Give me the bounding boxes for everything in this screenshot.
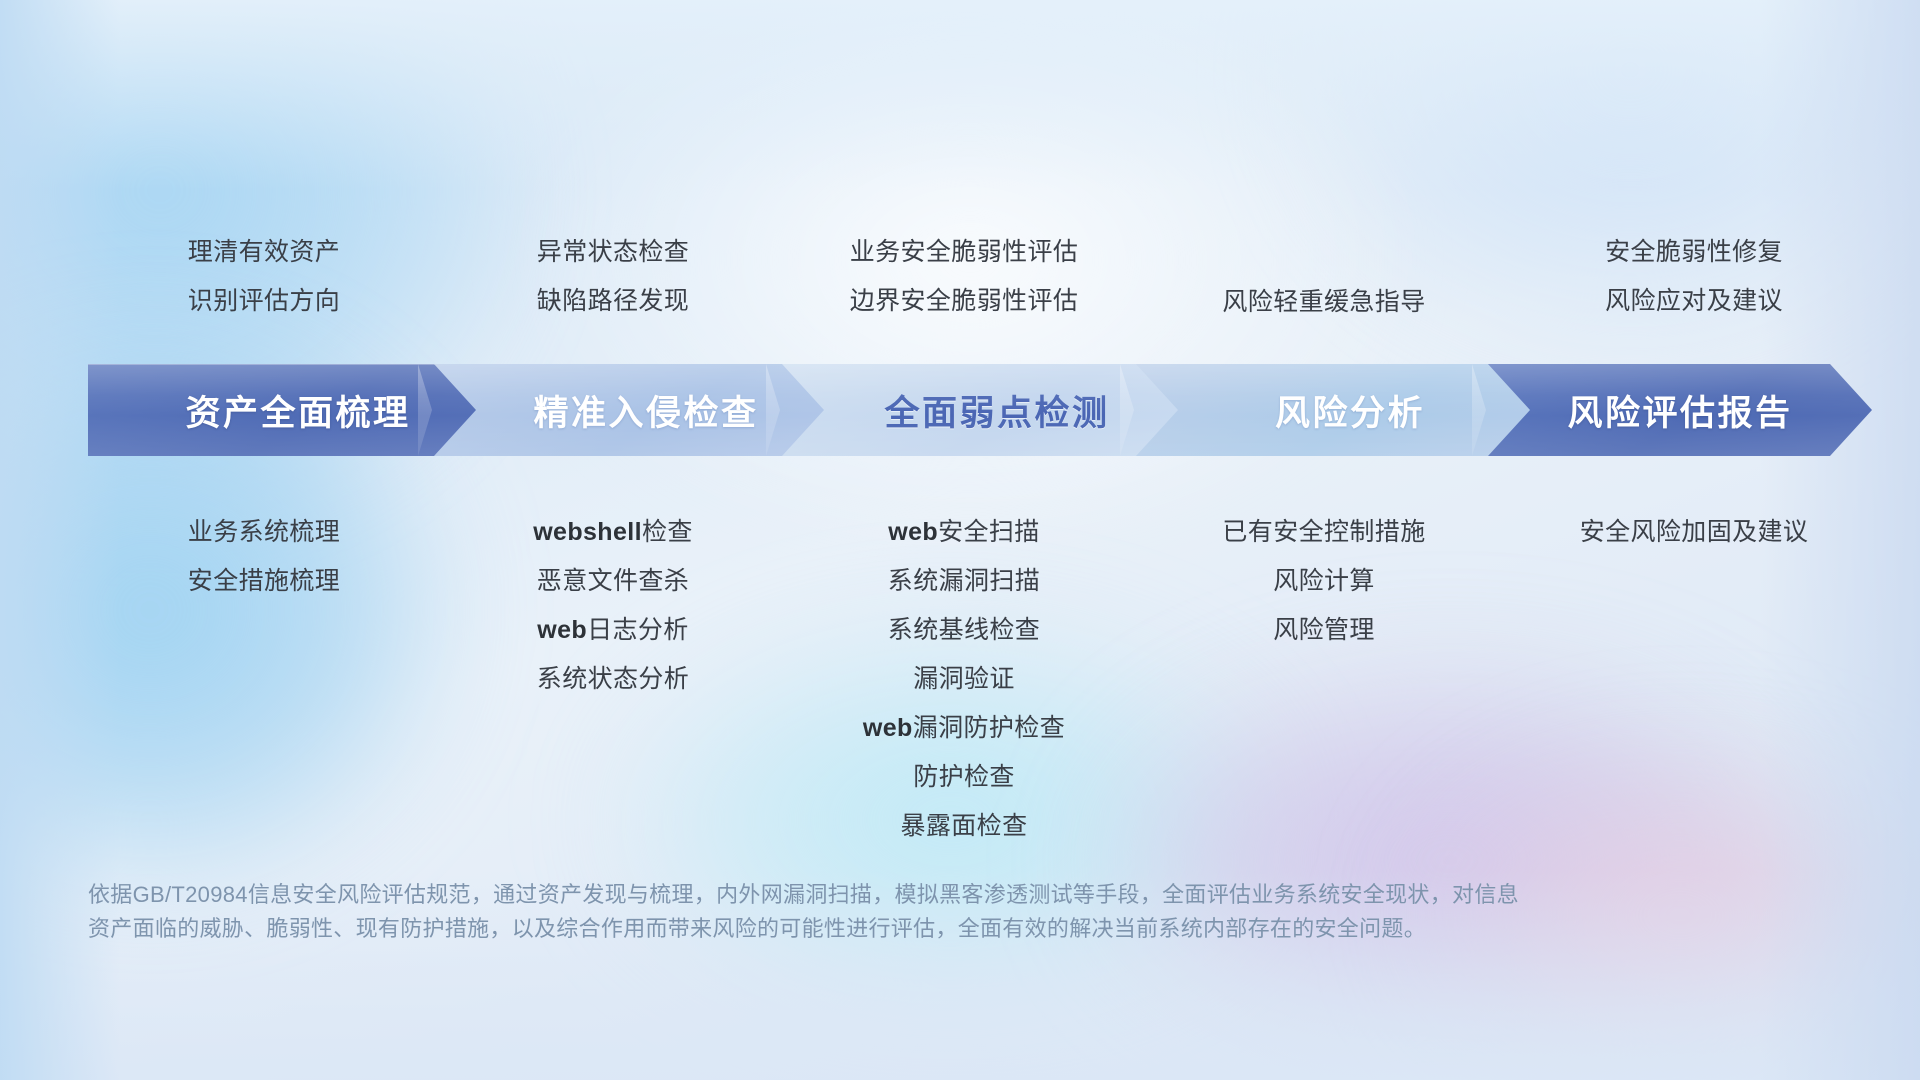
task-item: 安全措施梳理 xyxy=(188,557,340,606)
output-item: 识别评估方向 xyxy=(188,277,340,326)
output-item: 风险应对及建议 xyxy=(1605,277,1783,326)
step-chevron-weakness-detection[interactable]: 全面弱点检测 xyxy=(782,364,1212,456)
step-outputs-weakness-detection: 业务安全脆弱性评估 边界安全脆弱性评估 xyxy=(788,228,1140,338)
output-item: 边界安全脆弱性评估 xyxy=(850,277,1079,326)
footer-line-2: 资产面临的威胁、脆弱性、现有防护措施，以及综合作用而带来风险的可能性进行评估，全… xyxy=(88,912,1588,946)
output-item: 安全脆弱性修复 xyxy=(1605,228,1783,277)
step-title: 资产全面梳理 xyxy=(185,385,410,436)
task-item: webshell检查 xyxy=(533,508,693,557)
step-tasks-row: 业务系统梳理安全措施梳理 webshell检查恶意文件查杀web日志分析系统状态… xyxy=(90,508,1880,828)
task-item: 系统漏洞扫描 xyxy=(888,557,1040,606)
step-tasks-risk-analysis: 已有安全控制措施风险计算风险管理 xyxy=(1140,508,1508,655)
step-chevron-risk-report[interactable]: 风险评估报告 xyxy=(1488,364,1872,456)
output-item: 理清有效资产 xyxy=(188,228,340,277)
output-item: 异常状态检查 xyxy=(537,228,689,277)
step-outputs-asset-inventory: 理清有效资产 识别评估方向 xyxy=(90,228,438,338)
step-outputs-row: 理清有效资产 识别评估方向 异常状态检查 缺陷路径发现 业务安全脆弱性评估 边界… xyxy=(90,228,1880,338)
step-tasks-risk-report: 安全风险加固及建议 xyxy=(1508,508,1880,557)
task-item: 漏洞验证 xyxy=(913,655,1015,704)
step-tasks-weakness-detection: web安全扫描系统漏洞扫描系统基线检查漏洞验证web漏洞防护检查防护检查暴露面检… xyxy=(788,508,1140,851)
output-item: 缺陷路径发现 xyxy=(537,277,689,326)
footer-description: 依据GB/T20984信息安全风险评估规范，通过资产发现与梳理，内外网漏洞扫描，… xyxy=(88,878,1588,946)
step-chevron-risk-analysis[interactable]: 风险分析 xyxy=(1136,364,1564,456)
step-title: 精准入侵检查 xyxy=(533,385,758,436)
step-title: 风险分析 xyxy=(1275,385,1425,436)
task-item: 系统状态分析 xyxy=(537,655,689,704)
task-item: 业务系统梳理 xyxy=(188,508,340,557)
task-item: 防护检查 xyxy=(913,753,1015,802)
step-title: 全面弱点检测 xyxy=(884,385,1109,436)
task-item: 系统基线检查 xyxy=(888,606,1040,655)
task-item: 恶意文件查杀 xyxy=(537,557,689,606)
process-flow-diagram: 理清有效资产 识别评估方向 异常状态检查 缺陷路径发现 业务安全脆弱性评估 边界… xyxy=(0,0,1920,1080)
task-item: web日志分析 xyxy=(537,606,688,655)
step-chevron-asset-inventory[interactable]: 资产全面梳理 xyxy=(88,364,508,456)
step-outputs-risk-report: 安全脆弱性修复 风险应对及建议 xyxy=(1508,228,1880,338)
output-item: 业务安全脆弱性评估 xyxy=(850,228,1079,277)
step-outputs-risk-analysis: 风险轻重缓急指导 xyxy=(1140,228,1508,338)
output-item: 风险轻重缓急指导 xyxy=(1222,278,1425,327)
footer-line-1: 依据GB/T20984信息安全风险评估规范，通过资产发现与梳理，内外网漏洞扫描，… xyxy=(88,878,1588,912)
task-item: 风险管理 xyxy=(1273,606,1375,655)
step-tasks-intrusion-check: webshell检查恶意文件查杀web日志分析系统状态分析 xyxy=(438,508,788,704)
step-chevron-intrusion-check[interactable]: 精准入侵检查 xyxy=(434,364,858,456)
task-item: 已有安全控制措施 xyxy=(1222,508,1425,557)
task-item: web安全扫描 xyxy=(888,508,1039,557)
task-item: web漏洞防护检查 xyxy=(863,704,1065,753)
task-item: 暴露面检查 xyxy=(900,802,1027,851)
task-item: 安全风险加固及建议 xyxy=(1580,508,1809,557)
step-outputs-intrusion-check: 异常状态检查 缺陷路径发现 xyxy=(438,228,788,338)
step-tasks-asset-inventory: 业务系统梳理安全措施梳理 xyxy=(90,508,438,606)
process-chevron-banner: 资产全面梳理 精准入侵检查 全面弱点检测 风险分析 风险评估报告 xyxy=(88,364,1832,456)
task-item: 风险计算 xyxy=(1273,557,1375,606)
step-title: 风险评估报告 xyxy=(1567,385,1792,436)
